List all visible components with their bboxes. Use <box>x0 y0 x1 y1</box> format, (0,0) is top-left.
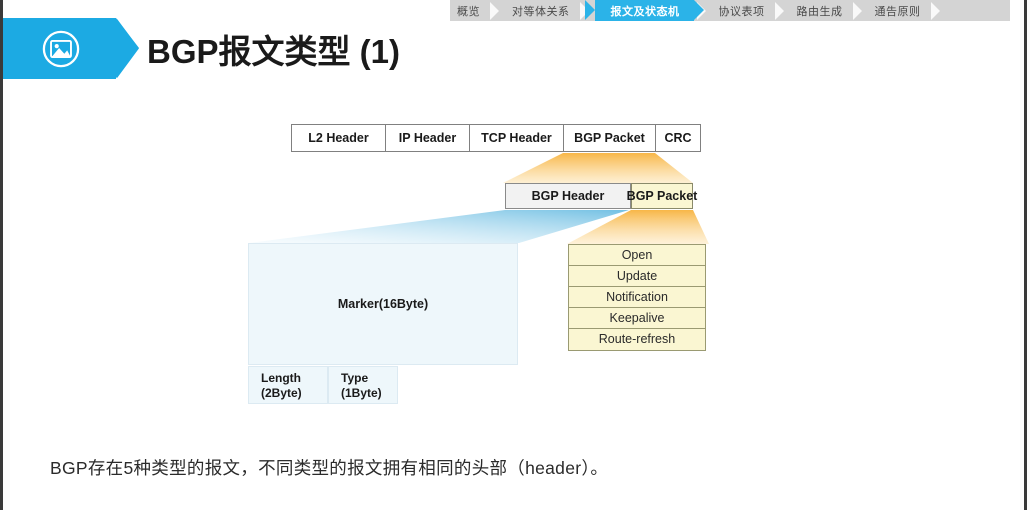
message-type-route-refresh: Route-refresh <box>569 329 705 350</box>
cell-label: BGP Header <box>532 189 605 203</box>
breadcrumb-label: 概览 <box>457 3 480 19</box>
cell-label: BGP Packet <box>574 131 645 145</box>
frame-cell-crc: CRC <box>655 124 701 152</box>
breadcrumb-separator-icon <box>928 0 946 21</box>
length-label-line1: Length <box>261 371 327 386</box>
chevron-right-icon <box>110 18 140 79</box>
breadcrumb-item-peer-relation[interactable]: 对等体关系 <box>505 0 577 21</box>
frame-cell-l2-header: L2 Header <box>291 124 385 152</box>
length-label-line2: (2Byte) <box>261 386 327 401</box>
breadcrumb-item-route-generation[interactable]: 路由生成 <box>790 0 850 21</box>
breadcrumb-item-messages-statemachine[interactable]: 报文及状态机 <box>595 0 694 21</box>
bgp-header-length-box: Length (2Byte) <box>248 366 328 404</box>
breadcrumb: 概览 对等体关系 报文及状态机 协议表项 路由生成 通告原则 <box>450 0 1010 21</box>
bgp-header-marker-box: Marker(16Byte) <box>248 243 518 365</box>
cell-label: L2 Header <box>308 131 368 145</box>
breadcrumb-separator-icon <box>772 0 790 21</box>
frame-cell-ip-header: IP Header <box>385 124 469 152</box>
cell-label: TCP Header <box>481 131 552 145</box>
type-label-line2: (1Byte) <box>341 386 397 401</box>
page-title: BGP报文类型 (1) <box>147 25 400 73</box>
connector-orange-top <box>503 153 693 183</box>
bgp-row-cell-bgp-packet: BGP Packet <box>631 183 693 209</box>
message-type-open: Open <box>569 245 705 266</box>
frame-cell-tcp-header: TCP Header <box>469 124 563 152</box>
message-type-notification: Notification <box>569 287 705 308</box>
frame-cell-bgp-packet: BGP Packet <box>563 124 655 152</box>
breadcrumb-separator-icon <box>850 0 868 21</box>
bgp-row-cell-bgp-header: BGP Header <box>505 183 631 209</box>
breadcrumb-label: 路由生成 <box>797 3 843 19</box>
image-picture-icon <box>42 30 80 68</box>
breadcrumb-item-overview[interactable]: 概览 <box>450 0 487 21</box>
message-type-list: Open Update Notification Keepalive Route… <box>568 244 706 351</box>
breadcrumb-item-advertisement-rules[interactable]: 通告原则 <box>868 0 928 21</box>
breadcrumb-label: 通告原则 <box>875 3 921 19</box>
connector-blue <box>249 210 629 243</box>
caption-text: BGP存在5种类型的报文，不同类型的报文拥有相同的头部（header）。 <box>50 455 608 480</box>
cell-label: BGP Packet <box>617 189 708 203</box>
breadcrumb-label: 对等体关系 <box>512 3 570 19</box>
message-type-keepalive: Keepalive <box>569 308 705 329</box>
slide: 概览 对等体关系 报文及状态机 协议表项 路由生成 通告原则 BG <box>0 0 1027 510</box>
type-label-line1: Type <box>341 371 397 386</box>
breadcrumb-separator-icon <box>487 0 505 21</box>
bgp-header-type-box: Type (1Byte) <box>328 366 398 404</box>
message-type-update: Update <box>569 266 705 287</box>
breadcrumb-item-protocol-table[interactable]: 协议表项 <box>712 0 772 21</box>
cell-label: IP Header <box>399 131 456 145</box>
breadcrumb-label: 报文及状态机 <box>611 3 680 19</box>
cell-label: CRC <box>664 131 691 145</box>
marker-label: Marker(16Byte) <box>338 297 428 311</box>
breadcrumb-label: 协议表项 <box>719 3 765 19</box>
